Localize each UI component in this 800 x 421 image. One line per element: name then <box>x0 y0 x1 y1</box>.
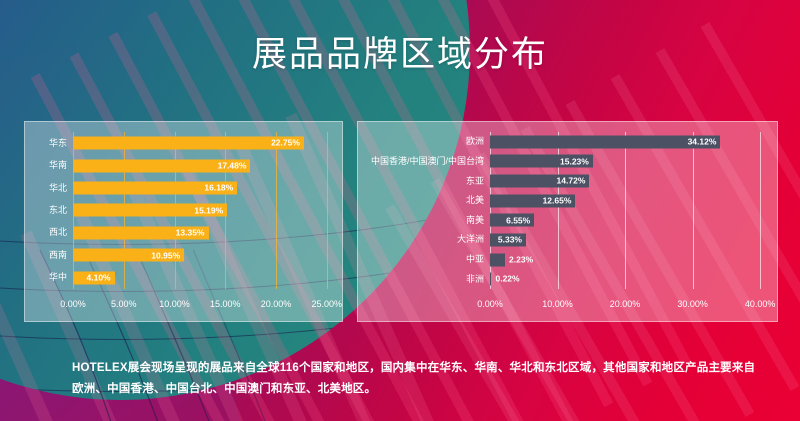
bar-row: 欧洲34.12% <box>358 132 777 152</box>
bar: 15.23% <box>490 155 593 168</box>
bar-track: 17.48% <box>73 154 342 176</box>
page-title: 展品品牌区域分布 <box>0 26 800 77</box>
bar: 2.23% <box>490 253 505 266</box>
bar-row: 中国香港/中国澳门/中国台湾15.23% <box>358 152 777 172</box>
bar-row: 华中4.10% <box>25 267 342 289</box>
bar-value-label: 13.35% <box>176 229 209 238</box>
x-tick-label: 0.00% <box>477 299 503 309</box>
bar-track: 15.19% <box>73 199 342 221</box>
bar: 5.33% <box>490 233 526 246</box>
category-label: 东北 <box>25 206 73 215</box>
x-tick-label: 25.00% <box>312 299 343 309</box>
bar: 0.22% <box>490 273 491 286</box>
x-tick-label: 30.00% <box>677 299 708 309</box>
x-tick-label: 5.00% <box>111 299 137 309</box>
bar: 6.55% <box>490 214 534 227</box>
bar-value-label: 4.10% <box>87 273 115 282</box>
bar-value-label: 34.12% <box>688 138 721 147</box>
bar-row: 非洲0.22% <box>358 269 777 289</box>
bar-row: 西北13.35% <box>25 222 342 244</box>
x-tick-label: 20.00% <box>610 299 641 309</box>
bar-rows-domestic: 华东22.75%华南17.48%华北16.18%东北15.19%西北13.35%… <box>25 132 342 289</box>
bar-value-label: 16.18% <box>204 184 237 193</box>
bar-track: 0.22% <box>490 269 777 289</box>
bar-track: 12.65% <box>490 191 777 211</box>
category-label: 欧洲 <box>358 137 490 146</box>
category-label: 北美 <box>358 196 490 205</box>
bar-value-label: 2.23% <box>505 255 533 264</box>
x-tick-label: 20.00% <box>261 299 292 309</box>
x-tick-label: 10.00% <box>159 299 190 309</box>
category-label: 大洋洲 <box>358 235 490 244</box>
x-tick-label: 10.00% <box>542 299 573 309</box>
category-label: 华中 <box>25 273 73 282</box>
bar-row: 华东22.75% <box>25 132 342 154</box>
bar: 22.75% <box>73 137 304 150</box>
category-label: 东亚 <box>358 177 490 186</box>
bar-value-label: 15.23% <box>560 157 593 166</box>
x-tick-label: 40.00% <box>745 299 776 309</box>
bar-value-label: 5.33% <box>498 236 526 245</box>
bar-row: 西南10.95% <box>25 244 342 266</box>
bar: 16.18% <box>73 182 237 195</box>
category-label: 非洲 <box>358 275 490 284</box>
bar-row: 大洋洲5.33% <box>358 230 777 250</box>
bar-track: 6.55% <box>490 211 777 231</box>
bar: 17.48% <box>73 159 250 172</box>
bar: 34.12% <box>490 135 720 148</box>
bar-chart-overseas-regions: 0.00%10.00%20.00%30.00%40.00% 欧洲34.12%中国… <box>358 122 777 321</box>
slide-canvas: 展品品牌区域分布 0.00%5.00%10.00%15.00%20.00%25.… <box>0 0 800 421</box>
bar-value-label: 10.95% <box>151 251 184 260</box>
bar-track: 5.33% <box>490 230 777 250</box>
bar-track: 16.18% <box>73 177 342 199</box>
bar: 14.72% <box>490 175 589 188</box>
bar: 13.35% <box>73 226 209 239</box>
chart-panel-overseas-regions: 0.00%10.00%20.00%30.00%40.00% 欧洲34.12%中国… <box>357 121 778 322</box>
bar-track: 22.75% <box>73 132 342 154</box>
bar-row: 东亚14.72% <box>358 171 777 191</box>
category-label: 中国香港/中国澳门/中国台湾 <box>358 157 490 166</box>
bar-value-label: 17.48% <box>218 161 251 170</box>
bar-value-label: 6.55% <box>506 216 534 225</box>
bar-track: 10.95% <box>73 244 342 266</box>
footer-summary-text: HOTELEX展会现场呈现的展品来自全球116个国家和地区，国内集中在华东、华南… <box>72 358 764 401</box>
category-label: 西北 <box>25 228 73 237</box>
category-label: 西南 <box>25 251 73 260</box>
bar: 4.10% <box>73 271 115 284</box>
bar-row: 南美6.55% <box>358 211 777 231</box>
bar: 15.19% <box>73 204 227 217</box>
bar-track: 15.23% <box>490 152 777 172</box>
bar-track: 14.72% <box>490 171 777 191</box>
bar-row: 北美12.65% <box>358 191 777 211</box>
bar-row: 东北15.19% <box>25 199 342 221</box>
bar-rows-overseas: 欧洲34.12%中国香港/中国澳门/中国台湾15.23%东亚14.72%北美12… <box>358 132 777 289</box>
bar-track: 4.10% <box>73 267 342 289</box>
bar: 10.95% <box>73 249 184 262</box>
x-tick-label: 0.00% <box>60 299 86 309</box>
category-label: 华北 <box>25 184 73 193</box>
category-label: 华南 <box>25 161 73 170</box>
bar-track: 13.35% <box>73 222 342 244</box>
bar-row: 华北16.18% <box>25 177 342 199</box>
bar-value-label: 0.22% <box>491 275 519 284</box>
bar-track: 34.12% <box>490 132 777 152</box>
bar-value-label: 15.19% <box>194 206 227 215</box>
bar-value-label: 12.65% <box>543 196 576 205</box>
bar: 12.65% <box>490 194 575 207</box>
category-label: 中亚 <box>358 255 490 264</box>
category-label: 南美 <box>358 216 490 225</box>
bar-chart-domestic-regions: 0.00%5.00%10.00%15.00%20.00%25.00% 华东22.… <box>25 122 342 321</box>
bar-track: 2.23% <box>490 250 777 270</box>
bar-row: 中亚2.23% <box>358 250 777 270</box>
bar-row: 华南17.48% <box>25 154 342 176</box>
bar-value-label: 14.72% <box>557 177 590 186</box>
category-label: 华东 <box>25 139 73 148</box>
bar-value-label: 22.75% <box>271 139 304 148</box>
chart-panel-domestic-regions: 0.00%5.00%10.00%15.00%20.00%25.00% 华东22.… <box>24 121 343 322</box>
x-tick-label: 15.00% <box>210 299 241 309</box>
